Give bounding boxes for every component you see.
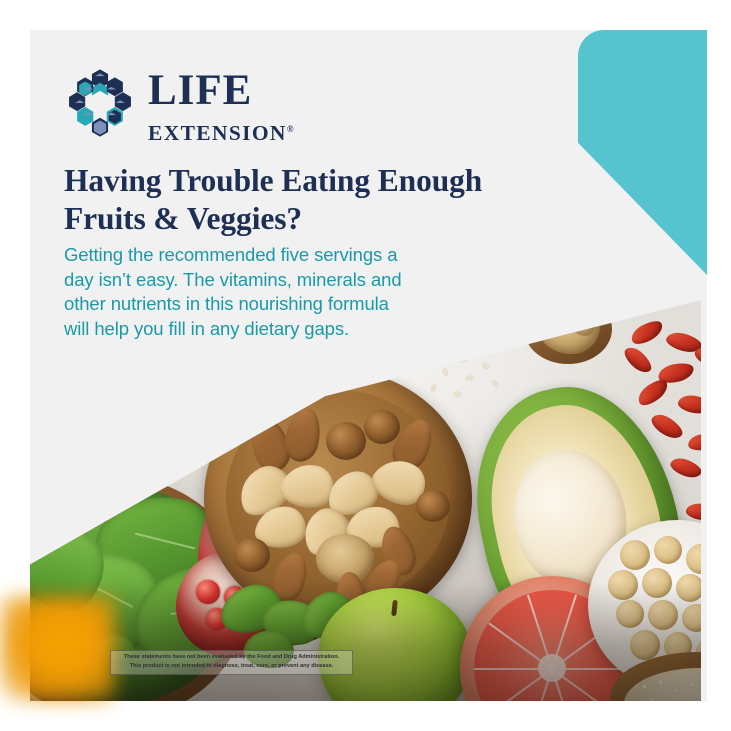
body-paragraph: Getting the recommended five servings a … xyxy=(64,243,454,341)
headline-line-1: Having Trouble Eating Enough xyxy=(64,162,584,200)
registered-trademark-icon: ® xyxy=(287,124,294,134)
page-title: Having Trouble Eating Enough Fruits & Ve… xyxy=(64,162,584,238)
promo-banner: LIFE EXTENSION® Having Trouble Eating En… xyxy=(0,0,731,731)
brand-name-line2-text: EXTENSION xyxy=(148,121,287,145)
body-line-4: will help you fill in any dietary gaps. xyxy=(64,317,454,342)
fda-disclaimer: These statements have not been evaluated… xyxy=(110,650,353,675)
brand-name-line2: EXTENSION® xyxy=(148,117,318,145)
disclaimer-line-2: This product is not intended to diagnose… xyxy=(115,662,348,671)
life-extension-hexagon-logo-icon xyxy=(66,68,134,138)
orange-glow-accent xyxy=(0,596,115,701)
body-line-1: Getting the recommended five servings a xyxy=(64,243,454,268)
body-line-3: other nutrients in this nourishing formu… xyxy=(64,292,454,317)
brand-name-line1: LIFE xyxy=(148,71,318,111)
disclaimer-line-1: These statements have not been evaluated… xyxy=(115,653,348,662)
body-line-2: day isn’t easy. The vitamins, minerals a… xyxy=(64,268,454,293)
brand-logo[interactable]: LIFE EXTENSION® xyxy=(66,68,316,140)
headline-line-2: Fruits & Veggies? xyxy=(64,200,584,238)
brand-wordmark: LIFE EXTENSION® xyxy=(148,71,318,145)
